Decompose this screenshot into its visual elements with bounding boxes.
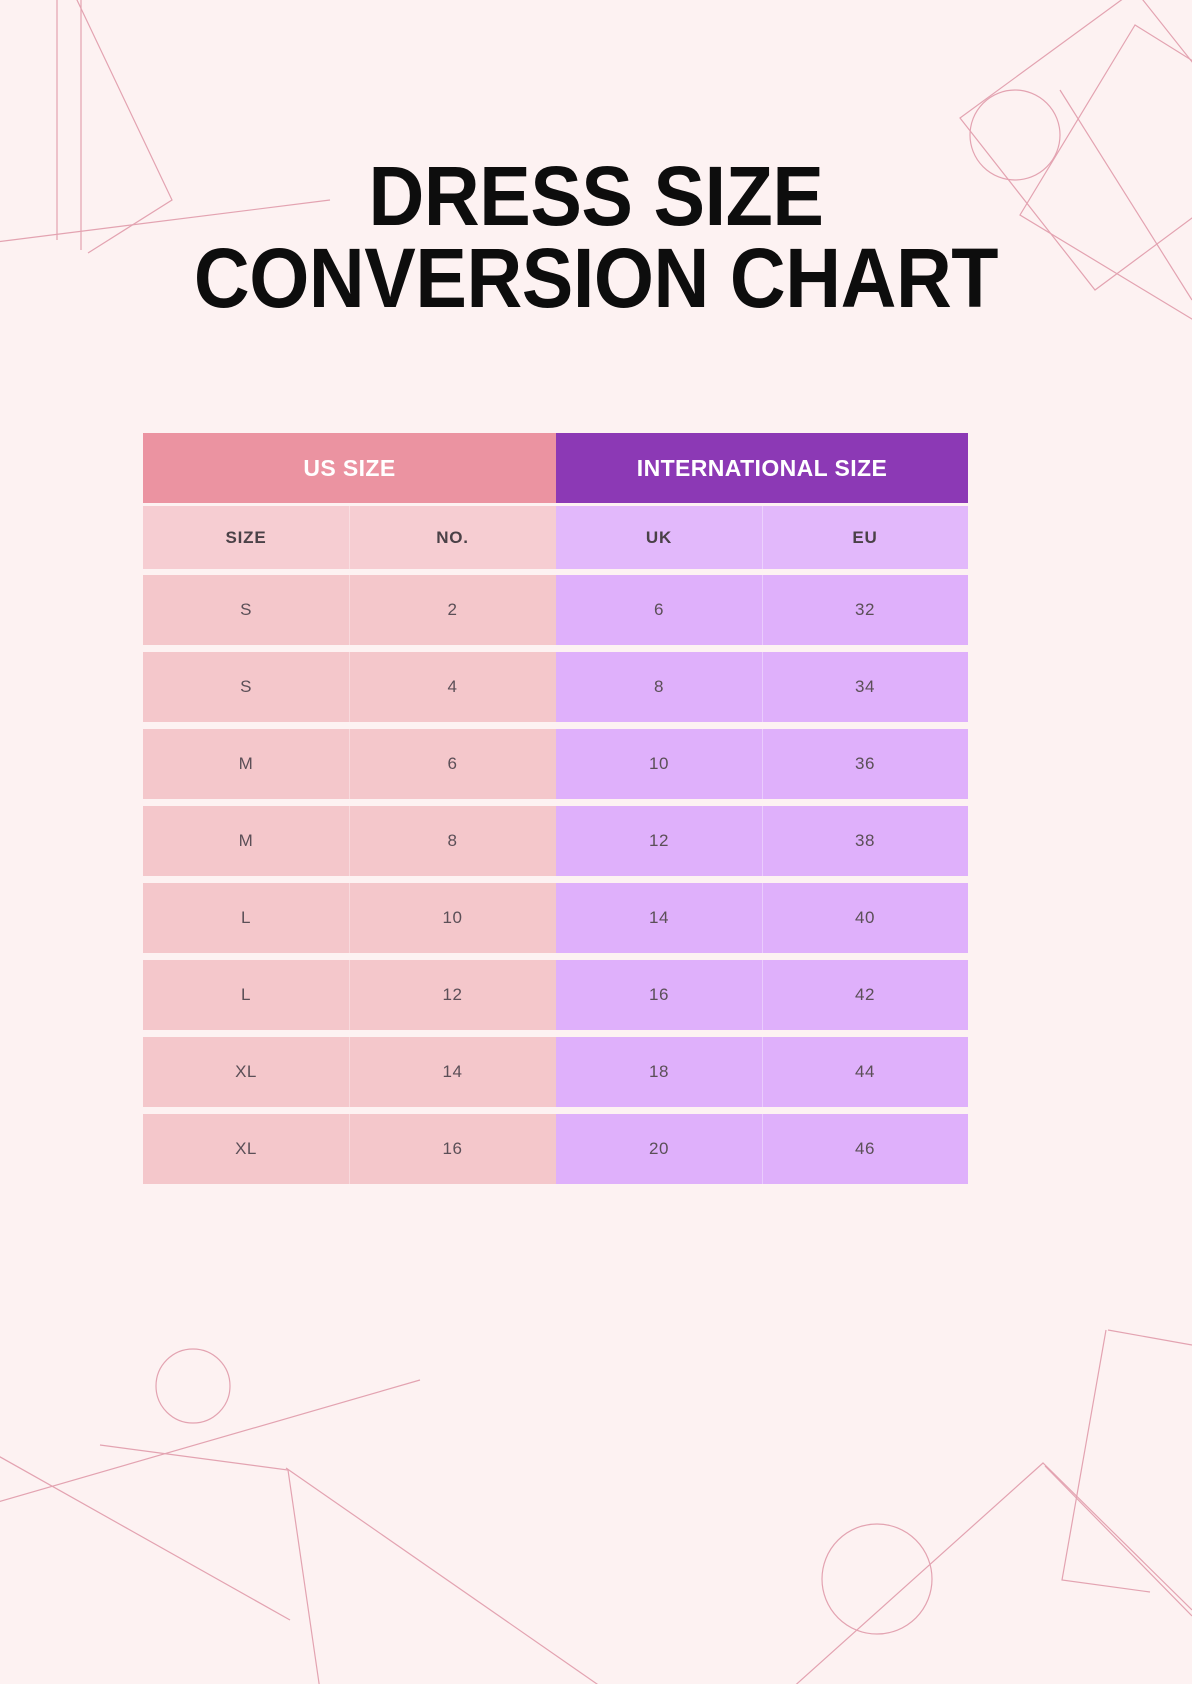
group-header-us-size: US SIZE <box>143 433 556 503</box>
cell-size: M <box>143 806 349 876</box>
cell-no: 4 <box>349 652 556 722</box>
table-row: XL 14 18 44 <box>143 1037 968 1107</box>
cell-uk: 20 <box>556 1114 762 1184</box>
cell-eu: 36 <box>762 729 968 799</box>
group-header-international-size: INTERNATIONAL SIZE <box>556 433 968 503</box>
cell-size: XL <box>143 1114 349 1184</box>
column-header-uk: UK <box>556 506 762 569</box>
cell-eu: 38 <box>762 806 968 876</box>
page-title-line-2: CONVERSION CHART <box>48 237 1145 319</box>
cell-no: 14 <box>349 1037 556 1107</box>
cell-size: S <box>143 652 349 722</box>
cell-no: 10 <box>349 883 556 953</box>
column-header-no: NO. <box>349 506 556 569</box>
cell-eu: 32 <box>762 575 968 645</box>
table-column-header-row: SIZE NO. UK EU <box>143 506 968 569</box>
cell-uk: 10 <box>556 729 762 799</box>
cell-size: L <box>143 960 349 1030</box>
cell-eu: 40 <box>762 883 968 953</box>
cell-size: M <box>143 729 349 799</box>
column-header-size: SIZE <box>143 506 349 569</box>
cell-uk: 16 <box>556 960 762 1030</box>
table-row: XL 16 20 46 <box>143 1114 968 1184</box>
cell-uk: 12 <box>556 806 762 876</box>
cell-eu: 46 <box>762 1114 968 1184</box>
column-header-eu: EU <box>762 506 968 569</box>
cell-size: XL <box>143 1037 349 1107</box>
size-chart-page: DRESS SIZE CONVERSION CHART US SIZE INTE… <box>0 0 1192 1684</box>
table-group-header-row: US SIZE INTERNATIONAL SIZE <box>143 433 968 503</box>
table-row: M 6 10 36 <box>143 729 968 799</box>
cell-uk: 6 <box>556 575 762 645</box>
table-row: L 12 16 42 <box>143 960 968 1030</box>
table-row: M 8 12 38 <box>143 806 968 876</box>
table-row: S 2 6 32 <box>143 575 968 645</box>
cell-uk: 18 <box>556 1037 762 1107</box>
cell-size: S <box>143 575 349 645</box>
cell-size: L <box>143 883 349 953</box>
cell-no: 6 <box>349 729 556 799</box>
cell-no: 2 <box>349 575 556 645</box>
cell-uk: 14 <box>556 883 762 953</box>
cell-no: 12 <box>349 960 556 1030</box>
table-row: S 4 8 34 <box>143 652 968 722</box>
size-conversion-table: US SIZE INTERNATIONAL SIZE SIZE NO. UK E… <box>143 433 968 1191</box>
cell-no: 16 <box>349 1114 556 1184</box>
cell-uk: 8 <box>556 652 762 722</box>
cell-eu: 34 <box>762 652 968 722</box>
page-title: DRESS SIZE CONVERSION CHART <box>0 155 1192 320</box>
page-title-line-1: DRESS SIZE <box>48 155 1145 237</box>
cell-eu: 42 <box>762 960 968 1030</box>
table-row: L 10 14 40 <box>143 883 968 953</box>
cell-eu: 44 <box>762 1037 968 1107</box>
cell-no: 8 <box>349 806 556 876</box>
